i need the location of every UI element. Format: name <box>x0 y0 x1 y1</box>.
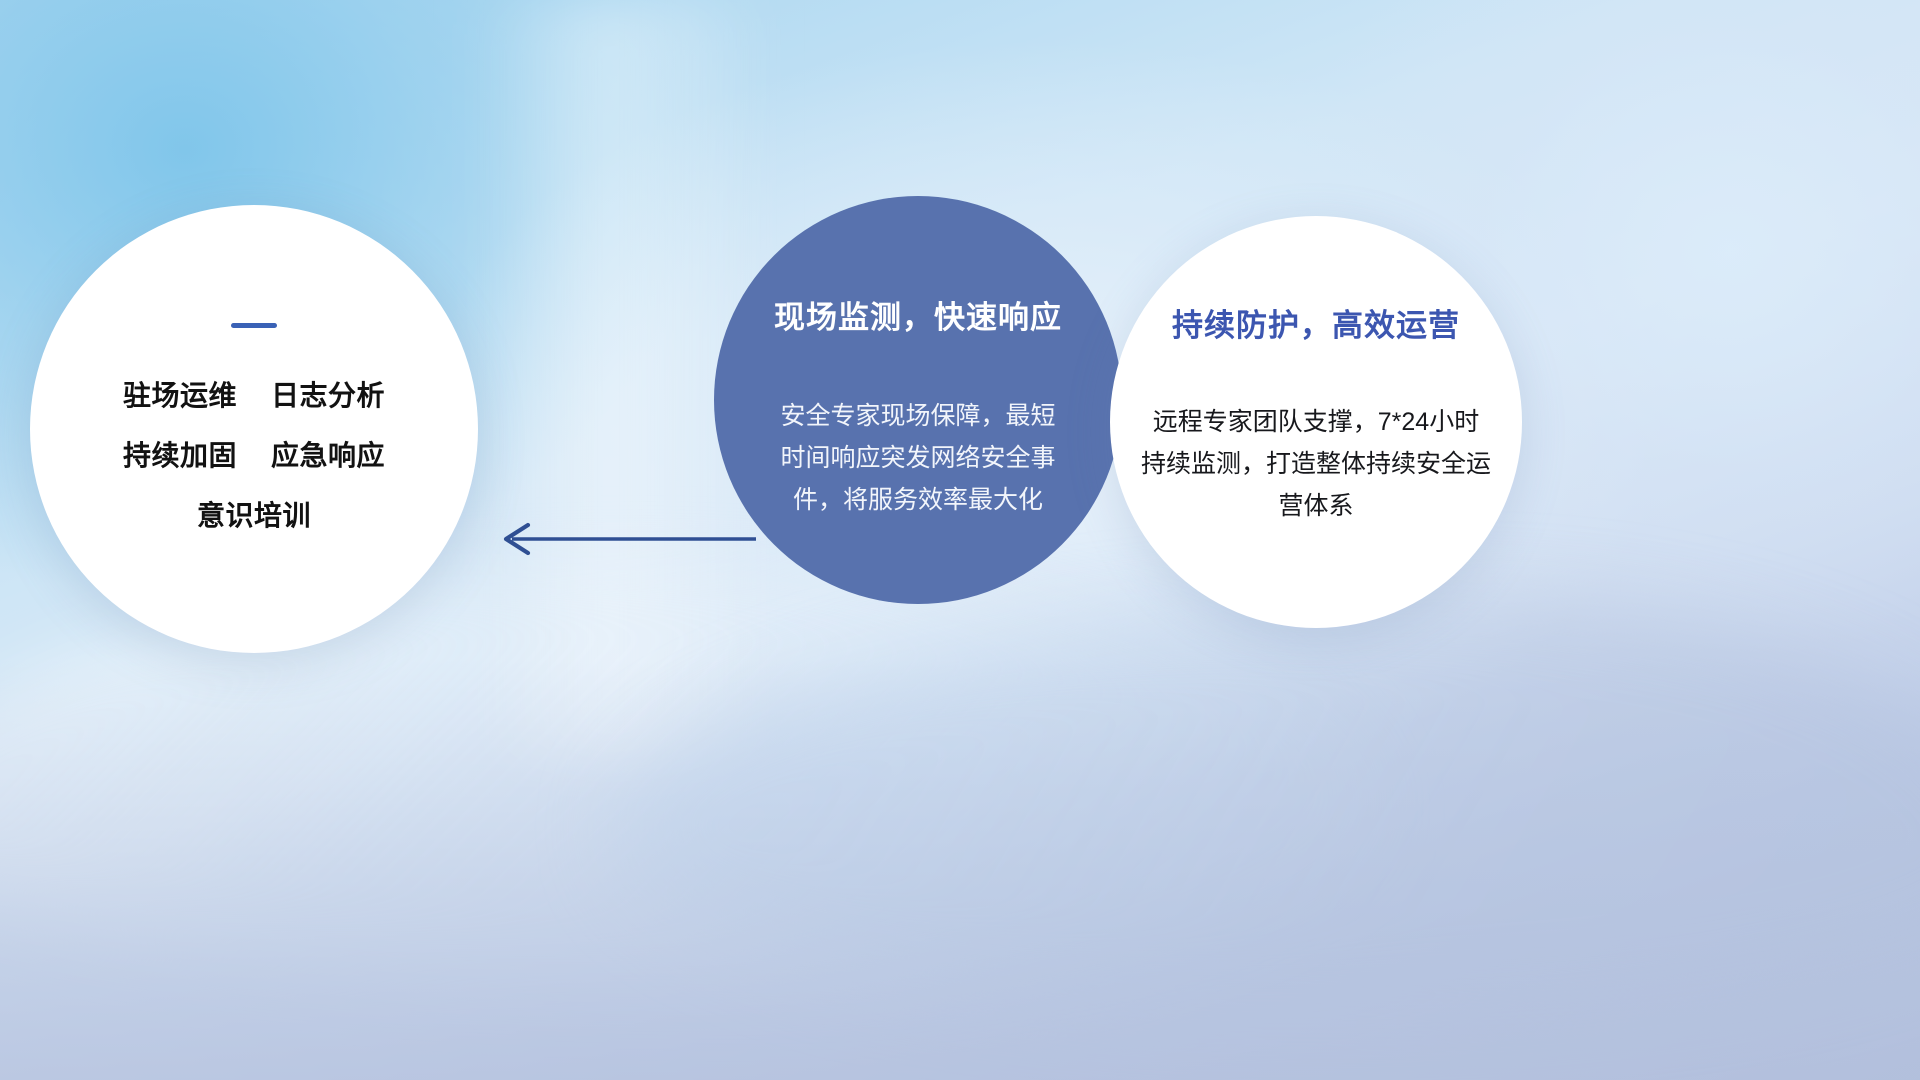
capability-circle-middle[interactable]: 现场监测，快速响应 安全专家现场保障，最短时间响应突发网络安全事件，将服务效率最… <box>714 196 1122 604</box>
capability-circle-left[interactable]: 驻场运维 日志分析 持续加固 应急响应 意识培训 <box>30 205 478 653</box>
slide-canvas: 驻场运维 日志分析 持续加固 应急响应 意识培训 现场监测，快速响应 安全专家现… <box>0 0 1920 1080</box>
middle-circle-body: 安全专家现场保障，最短时间响应突发网络安全事件，将服务效率最大化 <box>773 395 1063 521</box>
capability-row-3: 意识培训 <box>197 502 311 530</box>
capability-tag[interactable]: 日志分析 <box>271 382 385 410</box>
capability-row-2: 持续加固 应急响应 <box>123 442 385 470</box>
capability-circle-right[interactable]: 持续防护，高效运营 远程专家团队支撑，7*24小时持续监测，打造整体持续安全运营… <box>1110 216 1522 628</box>
flow-arrow-left-icon <box>488 508 756 570</box>
capability-circle-middle-content: 现场监测，快速响应 安全专家现场保障，最短时间响应突发网络安全事件，将服务效率最… <box>714 196 1122 604</box>
capability-tag[interactable]: 驻场运维 <box>123 382 237 410</box>
capability-row-1: 驻场运维 日志分析 <box>123 382 385 410</box>
capability-tag[interactable]: 意识培训 <box>197 502 311 530</box>
capability-tag[interactable]: 持续加固 <box>123 442 237 470</box>
capability-circle-left-content: 驻场运维 日志分析 持续加固 应急响应 意识培训 <box>30 205 478 653</box>
divider-dash-icon <box>231 323 277 328</box>
capability-circle-right-content: 持续防护，高效运营 远程专家团队支撑，7*24小时持续监测，打造整体持续安全运营… <box>1110 216 1522 628</box>
middle-circle-title: 现场监测，快速响应 <box>774 292 1062 337</box>
right-circle-title: 持续防护，高效运营 <box>1172 300 1460 345</box>
capability-tag[interactable]: 应急响应 <box>271 442 385 470</box>
right-circle-body: 远程专家团队支撑，7*24小时持续监测，打造整体持续安全运营体系 <box>1141 401 1491 527</box>
